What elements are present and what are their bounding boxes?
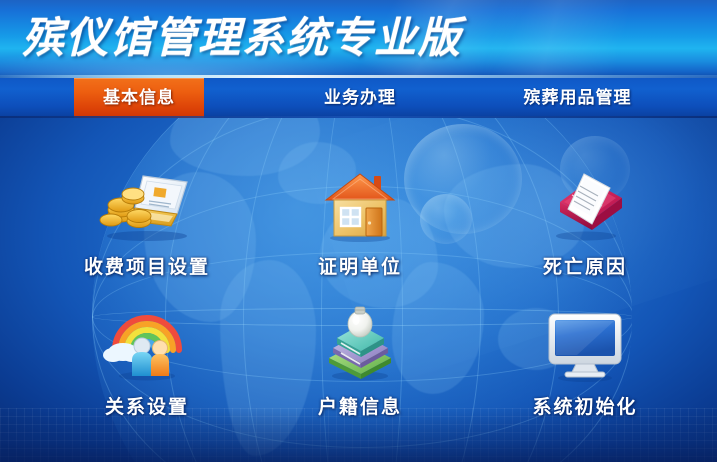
- tab-basic-info-label: 基本信息: [103, 88, 175, 108]
- laptop-coins-icon: [57, 164, 237, 242]
- module-icon-grid: 收费项目设置: [0, 118, 717, 462]
- rainbow-people-icon: [57, 304, 237, 382]
- tab-funeral-supplies-management-label: 殡葬用品管理: [524, 88, 632, 108]
- tab-business-handling[interactable]: 业务办理: [295, 78, 425, 118]
- tab-basic-info[interactable]: 基本信息: [74, 78, 204, 118]
- house-icon: [270, 164, 450, 242]
- main-navigation-bar: 基本信息 业务办理 殡葬用品管理: [0, 78, 717, 118]
- module-tile-relationship-settings[interactable]: 关系设置: [57, 304, 237, 419]
- page-title: 殡仪馆管理系统专业版: [22, 9, 462, 67]
- module-tile-cause-of-death[interactable]: 死亡原因: [495, 164, 675, 279]
- module-tile-fee-item-settings[interactable]: 收费项目设置: [57, 164, 237, 279]
- module-tile-household-registration[interactable]: 户籍信息: [270, 304, 450, 419]
- books-lightbulb-icon: [270, 304, 450, 382]
- module-tile-label: 关系设置: [57, 392, 237, 419]
- module-tile-system-initialization[interactable]: 系统初始化: [495, 304, 675, 419]
- module-tile-label: 户籍信息: [270, 392, 450, 419]
- module-tile-label: 证明单位: [270, 252, 450, 279]
- module-tile-label: 收费项目设置: [57, 252, 237, 279]
- app-header: 殡仪馆管理系统专业版: [0, 0, 717, 78]
- tab-business-handling-label: 业务办理: [324, 88, 396, 108]
- module-tile-label: 死亡原因: [495, 252, 675, 279]
- main-content-area: 收费项目设置: [0, 118, 717, 462]
- module-tile-certifying-unit[interactable]: 证明单位: [270, 164, 450, 279]
- tab-funeral-supplies-management[interactable]: 殡葬用品管理: [490, 78, 665, 118]
- module-tile-label: 系统初始化: [495, 392, 675, 419]
- monitor-icon: [495, 304, 675, 382]
- application-window: 殡仪馆管理系统专业版 基本信息 业务办理 殡葬用品管理: [0, 0, 717, 462]
- red-book-document-icon: [495, 164, 675, 242]
